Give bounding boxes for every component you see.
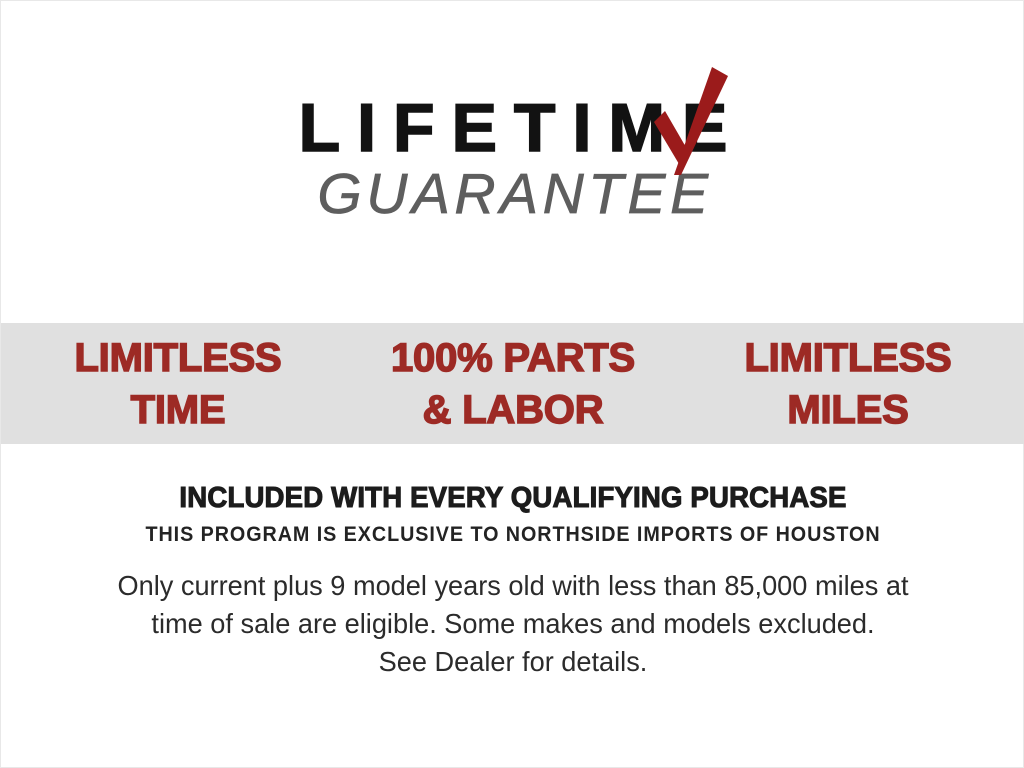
feature-limitless-time: LIMITLESS TIME xyxy=(13,332,343,436)
logo-wordmark: LIFETIME xyxy=(282,97,745,160)
fineprint-line-3: See Dealer for details. xyxy=(16,643,1009,681)
lifetime-guarantee-ad: LIFETIME GUARANTEE LIMITLESS TIME 100% P… xyxy=(0,0,1024,768)
logo-block: LIFETIME GUARANTEE xyxy=(1,97,1024,223)
logo-guarantee-text: GUARANTEE xyxy=(1,166,1024,223)
feature-time-line2: TIME xyxy=(13,384,343,436)
headline-primary: INCLUDED WITH EVERY QUALIFYING PURCHASE xyxy=(27,484,1000,513)
feature-miles-line1: LIMITLESS xyxy=(683,332,1013,384)
fineprint-line-1: Only current plus 9 model years old with… xyxy=(16,567,1009,605)
fineprint-block: Only current plus 9 model years old with… xyxy=(16,567,1009,681)
feature-band: LIMITLESS TIME 100% PARTS & LABOR LIMITL… xyxy=(1,323,1024,444)
logo-lifetime-text: LIFETIME xyxy=(282,97,745,160)
feature-time-line1: LIMITLESS xyxy=(13,332,343,384)
feature-limitless-miles: LIMITLESS MILES xyxy=(683,332,1013,436)
feature-parts-line1: 100% PARTS xyxy=(343,332,683,384)
headline-secondary: THIS PROGRAM IS EXCLUSIVE TO NORTHSIDE I… xyxy=(32,524,995,545)
feature-parts-labor: 100% PARTS & LABOR xyxy=(343,332,683,436)
fineprint-line-2: time of sale are eligible. Some makes an… xyxy=(16,605,1009,643)
feature-parts-line2: & LABOR xyxy=(343,384,683,436)
feature-miles-line2: MILES xyxy=(683,384,1013,436)
